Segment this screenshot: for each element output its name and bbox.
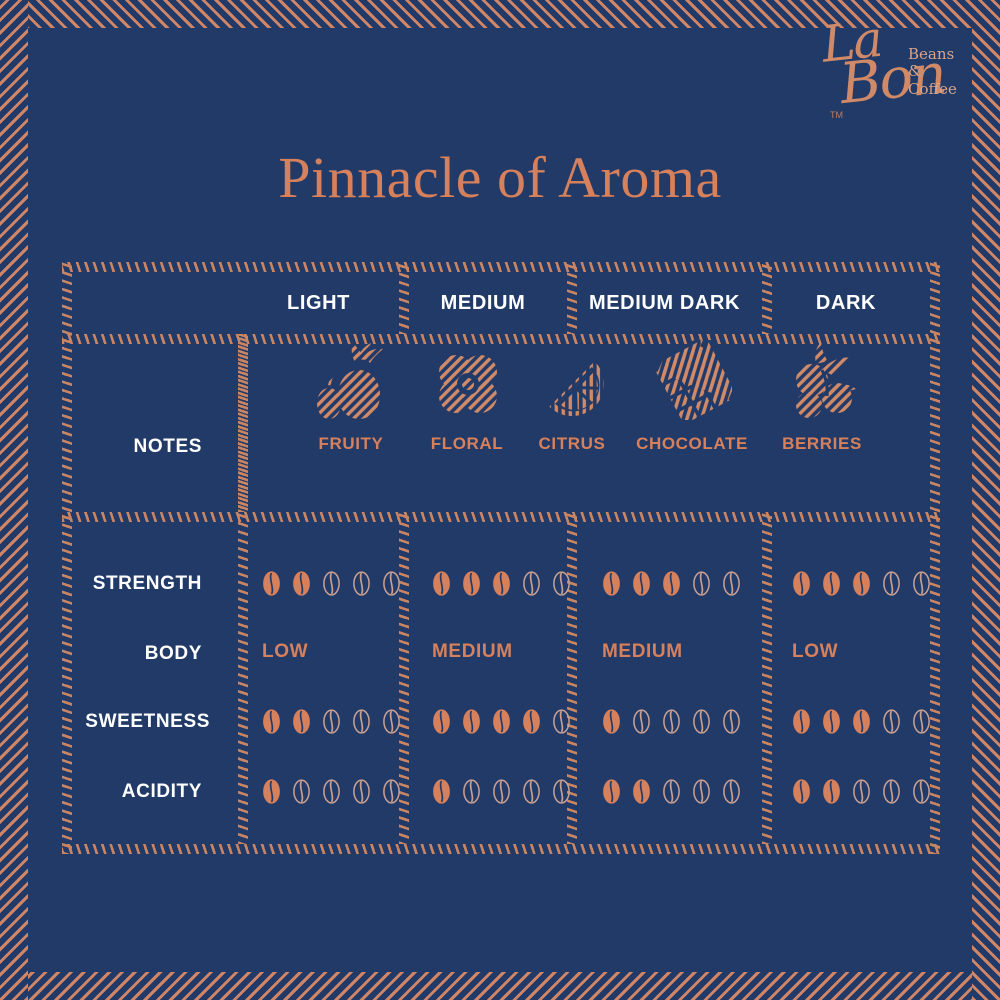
- bean-empty-icon: [912, 779, 931, 804]
- bean-empty-icon: [382, 709, 401, 734]
- trademark-mark: TM: [830, 110, 843, 120]
- row-label-strength-text: STRENGTH: [93, 573, 202, 594]
- bean-filled-icon: [602, 709, 621, 734]
- bean-empty-icon: [322, 779, 341, 804]
- bean-empty-icon: [692, 709, 711, 734]
- row-label-notes-text: NOTES: [134, 436, 202, 457]
- bean-empty-icon: [722, 709, 741, 734]
- citrus-wedge-icon: [512, 340, 632, 420]
- row-label-acidity-text: ACIDITY: [122, 781, 202, 802]
- body-divider-3: [762, 512, 772, 844]
- note-label-berries: BERRIES: [762, 434, 882, 454]
- note-cell-chocolate: CHOCOLATE: [632, 340, 752, 454]
- row-label-body: BODY: [62, 642, 232, 666]
- rating-strength-medium-dark: [602, 570, 741, 596]
- bean-empty-icon: [552, 779, 571, 804]
- bean-filled-icon: [852, 709, 871, 734]
- bean-empty-icon: [382, 571, 401, 596]
- column-header-light: LIGHT: [238, 288, 399, 318]
- body-value-medium-dark: MEDIUM: [602, 640, 683, 664]
- bean-filled-icon: [662, 571, 681, 596]
- bean-filled-icon: [462, 571, 481, 596]
- bean-empty-icon: [912, 571, 931, 596]
- border-stripe-right: [972, 0, 1000, 1000]
- rating-sweetness-medium: [432, 708, 571, 734]
- bean-filled-icon: [822, 709, 841, 734]
- body-value-light-text: LOW: [262, 641, 308, 662]
- roast-comparison-table: LIGHT MEDIUM MEDIUM DARK DARK NOTES STRE…: [62, 262, 940, 854]
- row-label-acidity: ACIDITY: [62, 780, 232, 804]
- bean-empty-icon: [382, 779, 401, 804]
- bean-empty-icon: [352, 709, 371, 734]
- row-label-notes: NOTES: [62, 435, 232, 459]
- bean-filled-icon: [792, 571, 811, 596]
- note-cell-floral: FLORAL: [407, 340, 527, 454]
- bean-empty-icon: [882, 571, 901, 596]
- bean-filled-icon: [602, 779, 621, 804]
- bean-filled-icon: [292, 571, 311, 596]
- bean-filled-icon: [492, 571, 511, 596]
- bean-filled-icon: [852, 571, 871, 596]
- bean-empty-icon: [322, 709, 341, 734]
- column-header-medium-label: MEDIUM: [441, 292, 526, 315]
- bean-filled-icon: [262, 571, 281, 596]
- table-rule-under-notes: [62, 512, 940, 522]
- rating-sweetness-light: [262, 708, 401, 734]
- chocolate-bar-icon: [632, 340, 752, 420]
- bean-empty-icon: [662, 779, 681, 804]
- pineapple-pear-icon: [291, 340, 411, 420]
- rating-acidity-light: [262, 778, 401, 804]
- logo-subtitle-line2: & Coffee: [908, 63, 970, 98]
- note-cell-fruity: FRUITY: [291, 340, 411, 454]
- rating-sweetness-dark: [792, 708, 931, 734]
- bean-empty-icon: [852, 779, 871, 804]
- bean-empty-icon: [692, 779, 711, 804]
- body-value-dark: LOW: [792, 640, 838, 664]
- berries-icon: [762, 340, 882, 420]
- flower-icon: [407, 340, 527, 420]
- bean-filled-icon: [292, 709, 311, 734]
- body-value-medium-dark-text: MEDIUM: [602, 641, 683, 662]
- bean-empty-icon: [352, 571, 371, 596]
- poster-canvas: La Bon Beans & Coffee TM Pinnacle of Aro…: [0, 0, 1000, 1000]
- rating-acidity-medium-dark: [602, 778, 741, 804]
- bean-filled-icon: [602, 571, 621, 596]
- body-value-dark-text: LOW: [792, 641, 838, 662]
- bean-empty-icon: [662, 709, 681, 734]
- bean-empty-icon: [552, 709, 571, 734]
- bean-filled-icon: [262, 779, 281, 804]
- bean-empty-icon: [722, 571, 741, 596]
- bean-empty-icon: [882, 709, 901, 734]
- border-stripe-bottom: [0, 972, 1000, 1000]
- bean-filled-icon: [792, 779, 811, 804]
- bean-filled-icon: [432, 779, 451, 804]
- bean-empty-icon: [522, 779, 541, 804]
- column-header-medium-dark-label: MEDIUM DARK: [589, 292, 740, 315]
- note-label-chocolate: CHOCOLATE: [632, 434, 752, 454]
- row-label-sweetness-text: SWEETNESS: [85, 711, 210, 732]
- rating-strength-dark: [792, 570, 931, 596]
- bean-empty-icon: [322, 571, 341, 596]
- bean-filled-icon: [522, 709, 541, 734]
- note-cell-berries: BERRIES: [762, 340, 882, 454]
- bean-empty-icon: [632, 709, 651, 734]
- row-label-sweetness: SWEETNESS: [62, 710, 232, 734]
- rating-sweetness-medium-dark: [602, 708, 741, 734]
- rating-strength-light: [262, 570, 401, 596]
- bean-empty-icon: [722, 779, 741, 804]
- bean-empty-icon: [692, 571, 711, 596]
- bean-filled-icon: [632, 779, 651, 804]
- bean-empty-icon: [492, 779, 511, 804]
- bean-filled-icon: [492, 709, 511, 734]
- column-header-medium-dark: MEDIUM DARK: [567, 288, 762, 318]
- logo-subtitle-line1: Beans: [908, 46, 970, 63]
- border-stripe-left: [0, 0, 28, 1000]
- bean-filled-icon: [792, 709, 811, 734]
- table-rule-left: [62, 262, 72, 854]
- row-label-body-text: BODY: [145, 643, 202, 664]
- bean-empty-icon: [552, 571, 571, 596]
- rating-acidity-medium: [432, 778, 571, 804]
- body-value-light: LOW: [262, 640, 308, 664]
- bean-filled-icon: [432, 571, 451, 596]
- bean-filled-icon: [262, 709, 281, 734]
- table-rule-bottom: [62, 844, 940, 854]
- bean-filled-icon: [432, 709, 451, 734]
- bean-empty-icon: [882, 779, 901, 804]
- bean-filled-icon: [822, 779, 841, 804]
- bean-empty-icon: [522, 571, 541, 596]
- column-header-dark: DARK: [762, 288, 930, 318]
- note-label-citrus: CITRUS: [512, 434, 632, 454]
- rating-strength-medium: [432, 570, 571, 596]
- table-rule-right: [930, 262, 940, 854]
- logo-subtitle: Beans & Coffee: [908, 46, 970, 98]
- bean-empty-icon: [292, 779, 311, 804]
- bean-filled-icon: [822, 571, 841, 596]
- rating-acidity-dark: [792, 778, 931, 804]
- column-header-medium: MEDIUM: [399, 288, 567, 318]
- notes-box-left-edge: [238, 334, 248, 512]
- column-header-light-label: LIGHT: [287, 292, 350, 315]
- row-label-strength: STRENGTH: [62, 572, 232, 596]
- bean-empty-icon: [912, 709, 931, 734]
- note-label-fruity: FRUITY: [291, 434, 411, 454]
- bean-filled-icon: [632, 571, 651, 596]
- brand-logo: La Bon Beans & Coffee TM: [820, 22, 970, 122]
- body-value-medium-text: MEDIUM: [432, 641, 513, 662]
- note-label-floral: FLORAL: [407, 434, 527, 454]
- column-header-dark-label: DARK: [816, 292, 876, 315]
- bean-empty-icon: [462, 779, 481, 804]
- bean-filled-icon: [462, 709, 481, 734]
- bean-empty-icon: [352, 779, 371, 804]
- page-title: Pinnacle of Aroma: [0, 144, 1000, 211]
- table-rule-top: [62, 262, 940, 272]
- body-value-medium: MEDIUM: [432, 640, 513, 664]
- note-cell-citrus: CITRUS: [512, 340, 632, 454]
